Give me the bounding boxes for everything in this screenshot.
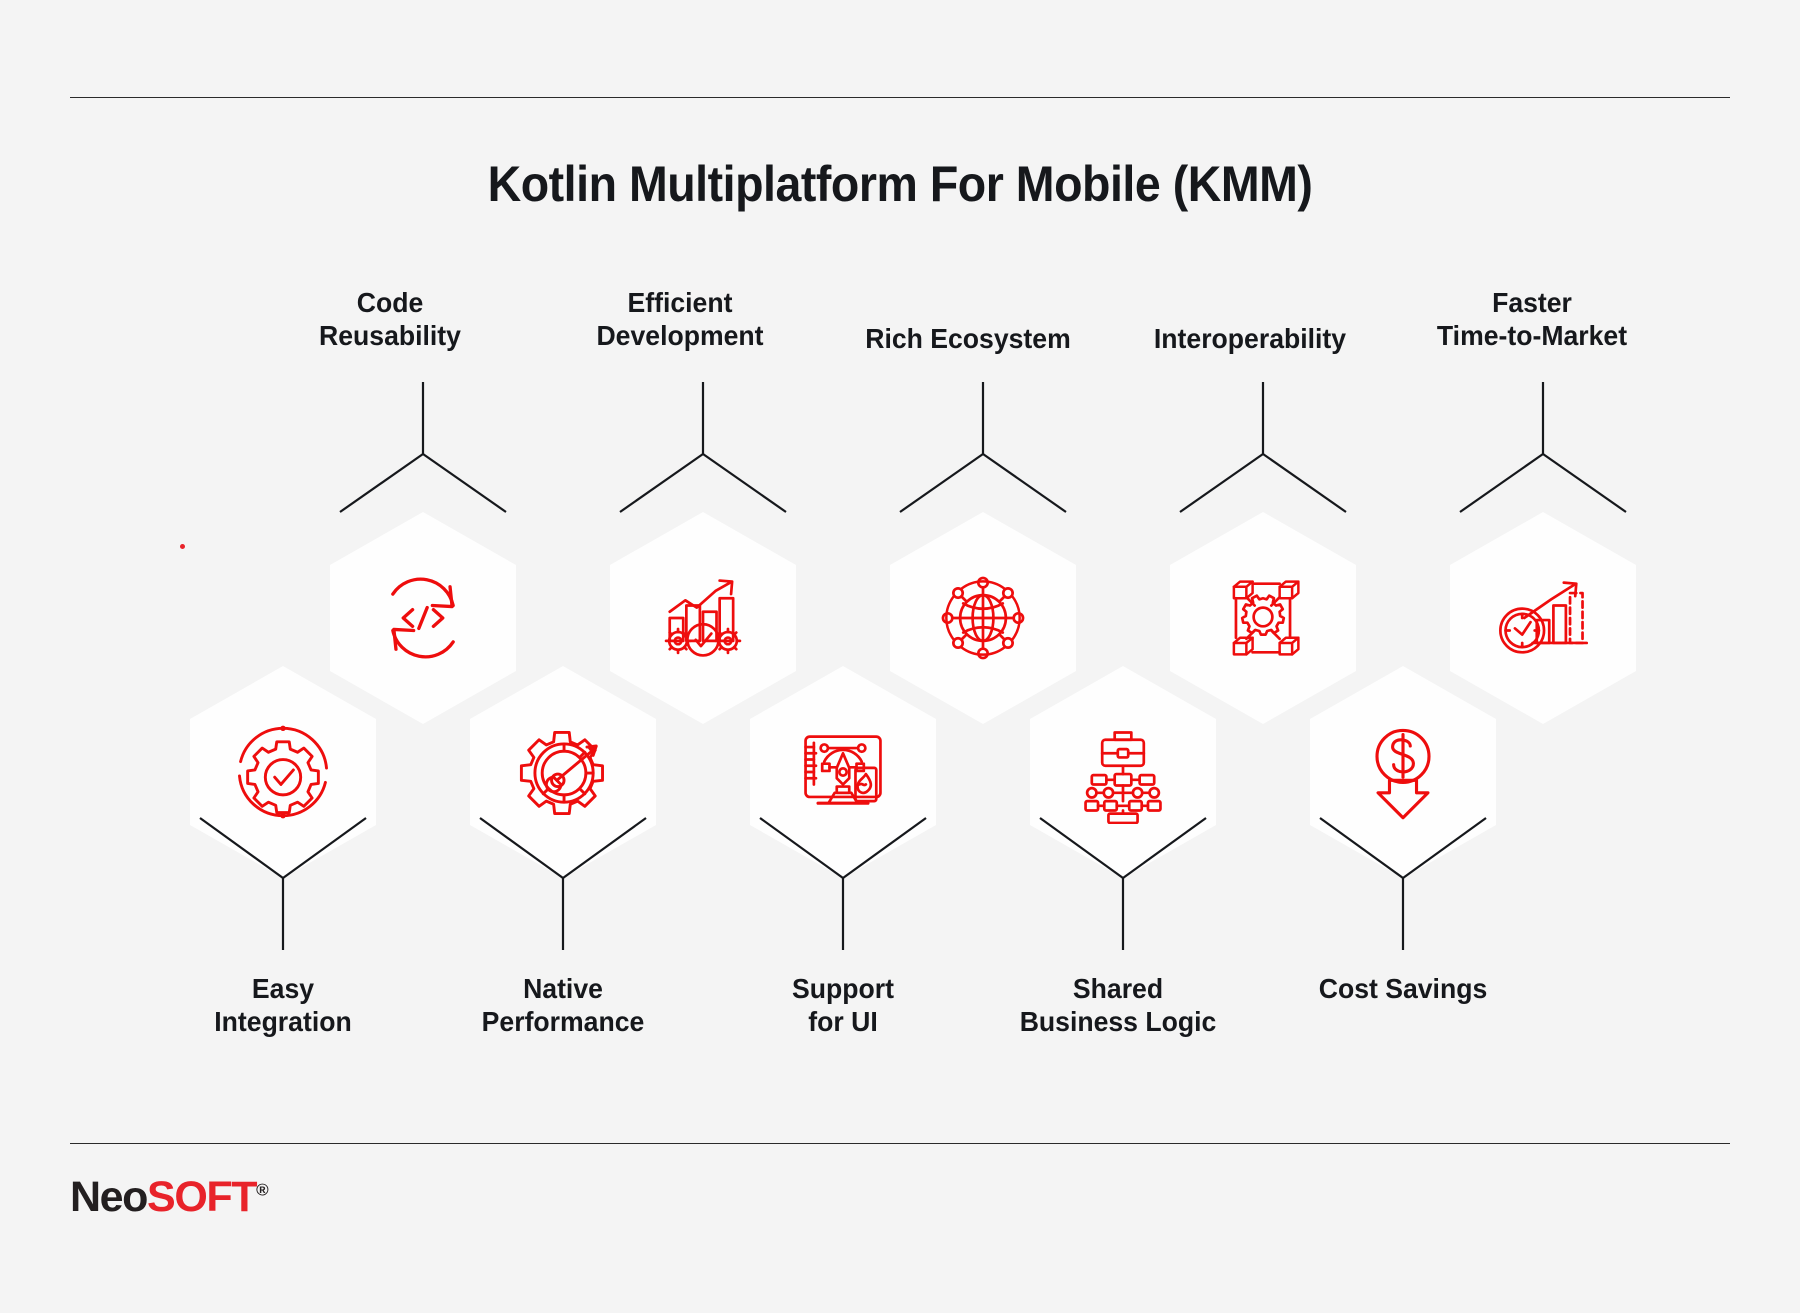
label-code-reusability: Code Reusability	[295, 286, 485, 352]
hex-faster-time-to-market[interactable]	[1450, 512, 1636, 724]
top-divider-rule	[70, 97, 1730, 98]
dollar-down-arrow-icon	[1351, 720, 1455, 824]
gear-speedometer-icon	[511, 720, 615, 824]
label-faster-time-to-market: Faster Time-to-Market	[1399, 286, 1665, 352]
label-shared-business-logic: Shared Business Logic	[980, 972, 1256, 1038]
connector-code-reusability	[330, 382, 516, 512]
connector-native-performance	[470, 818, 656, 950]
neosoft-logo: NeoSOFT®	[70, 1176, 269, 1219]
bar-chart-gears-check-icon	[651, 566, 755, 670]
logo-text-soft: SOFT	[147, 1173, 256, 1221]
label-efficient-development: Efficient Development	[576, 286, 785, 352]
label-native-performance: Native Performance	[430, 972, 696, 1038]
label-interoperability: Interoperability	[1127, 322, 1374, 355]
connector-rich-ecosystem	[890, 382, 1076, 512]
connector-support-for-ui	[750, 818, 936, 950]
globe-network-icon	[931, 566, 1035, 670]
hex-rich-ecosystem[interactable]	[890, 512, 1076, 724]
label-easy-integration: Easy Integration	[169, 972, 397, 1038]
connector-cost-savings	[1310, 818, 1496, 950]
hex-efficient-development[interactable]	[610, 512, 796, 724]
label-support-for-ui: Support for UI	[729, 972, 957, 1038]
connector-shared-business-logic	[1030, 818, 1216, 950]
monitor-pen-design-icon	[791, 720, 895, 824]
bottom-divider-rule	[70, 1143, 1730, 1144]
connector-interoperability	[1170, 382, 1356, 512]
gear-check-circle-icon	[231, 720, 335, 824]
infographic-canvas: Kotlin Multiplatform For Mobile (KMM) Co…	[0, 0, 1800, 1313]
hex-interoperability[interactable]	[1170, 512, 1356, 724]
hex-code-reusability[interactable]	[330, 512, 516, 724]
gear-cubes-network-icon	[1211, 566, 1315, 670]
briefcase-flowchart-icon	[1071, 720, 1175, 824]
decorative-dot	[180, 544, 185, 549]
label-rich-ecosystem: Rich Ecosystem	[845, 322, 1092, 355]
connector-faster-time-to-market	[1450, 382, 1636, 512]
connector-easy-integration	[190, 818, 376, 950]
label-cost-savings: Cost Savings	[1280, 972, 1527, 1005]
page-title: Kotlin Multiplatform For Mobile (KMM)	[63, 155, 1737, 213]
logo-text-neo: Neo	[70, 1173, 147, 1221]
registered-trademark-icon: ®	[256, 1181, 269, 1200]
connector-efficient-development	[610, 382, 796, 512]
code-refresh-icon	[371, 566, 475, 670]
clock-growth-chart-icon	[1491, 566, 1595, 670]
